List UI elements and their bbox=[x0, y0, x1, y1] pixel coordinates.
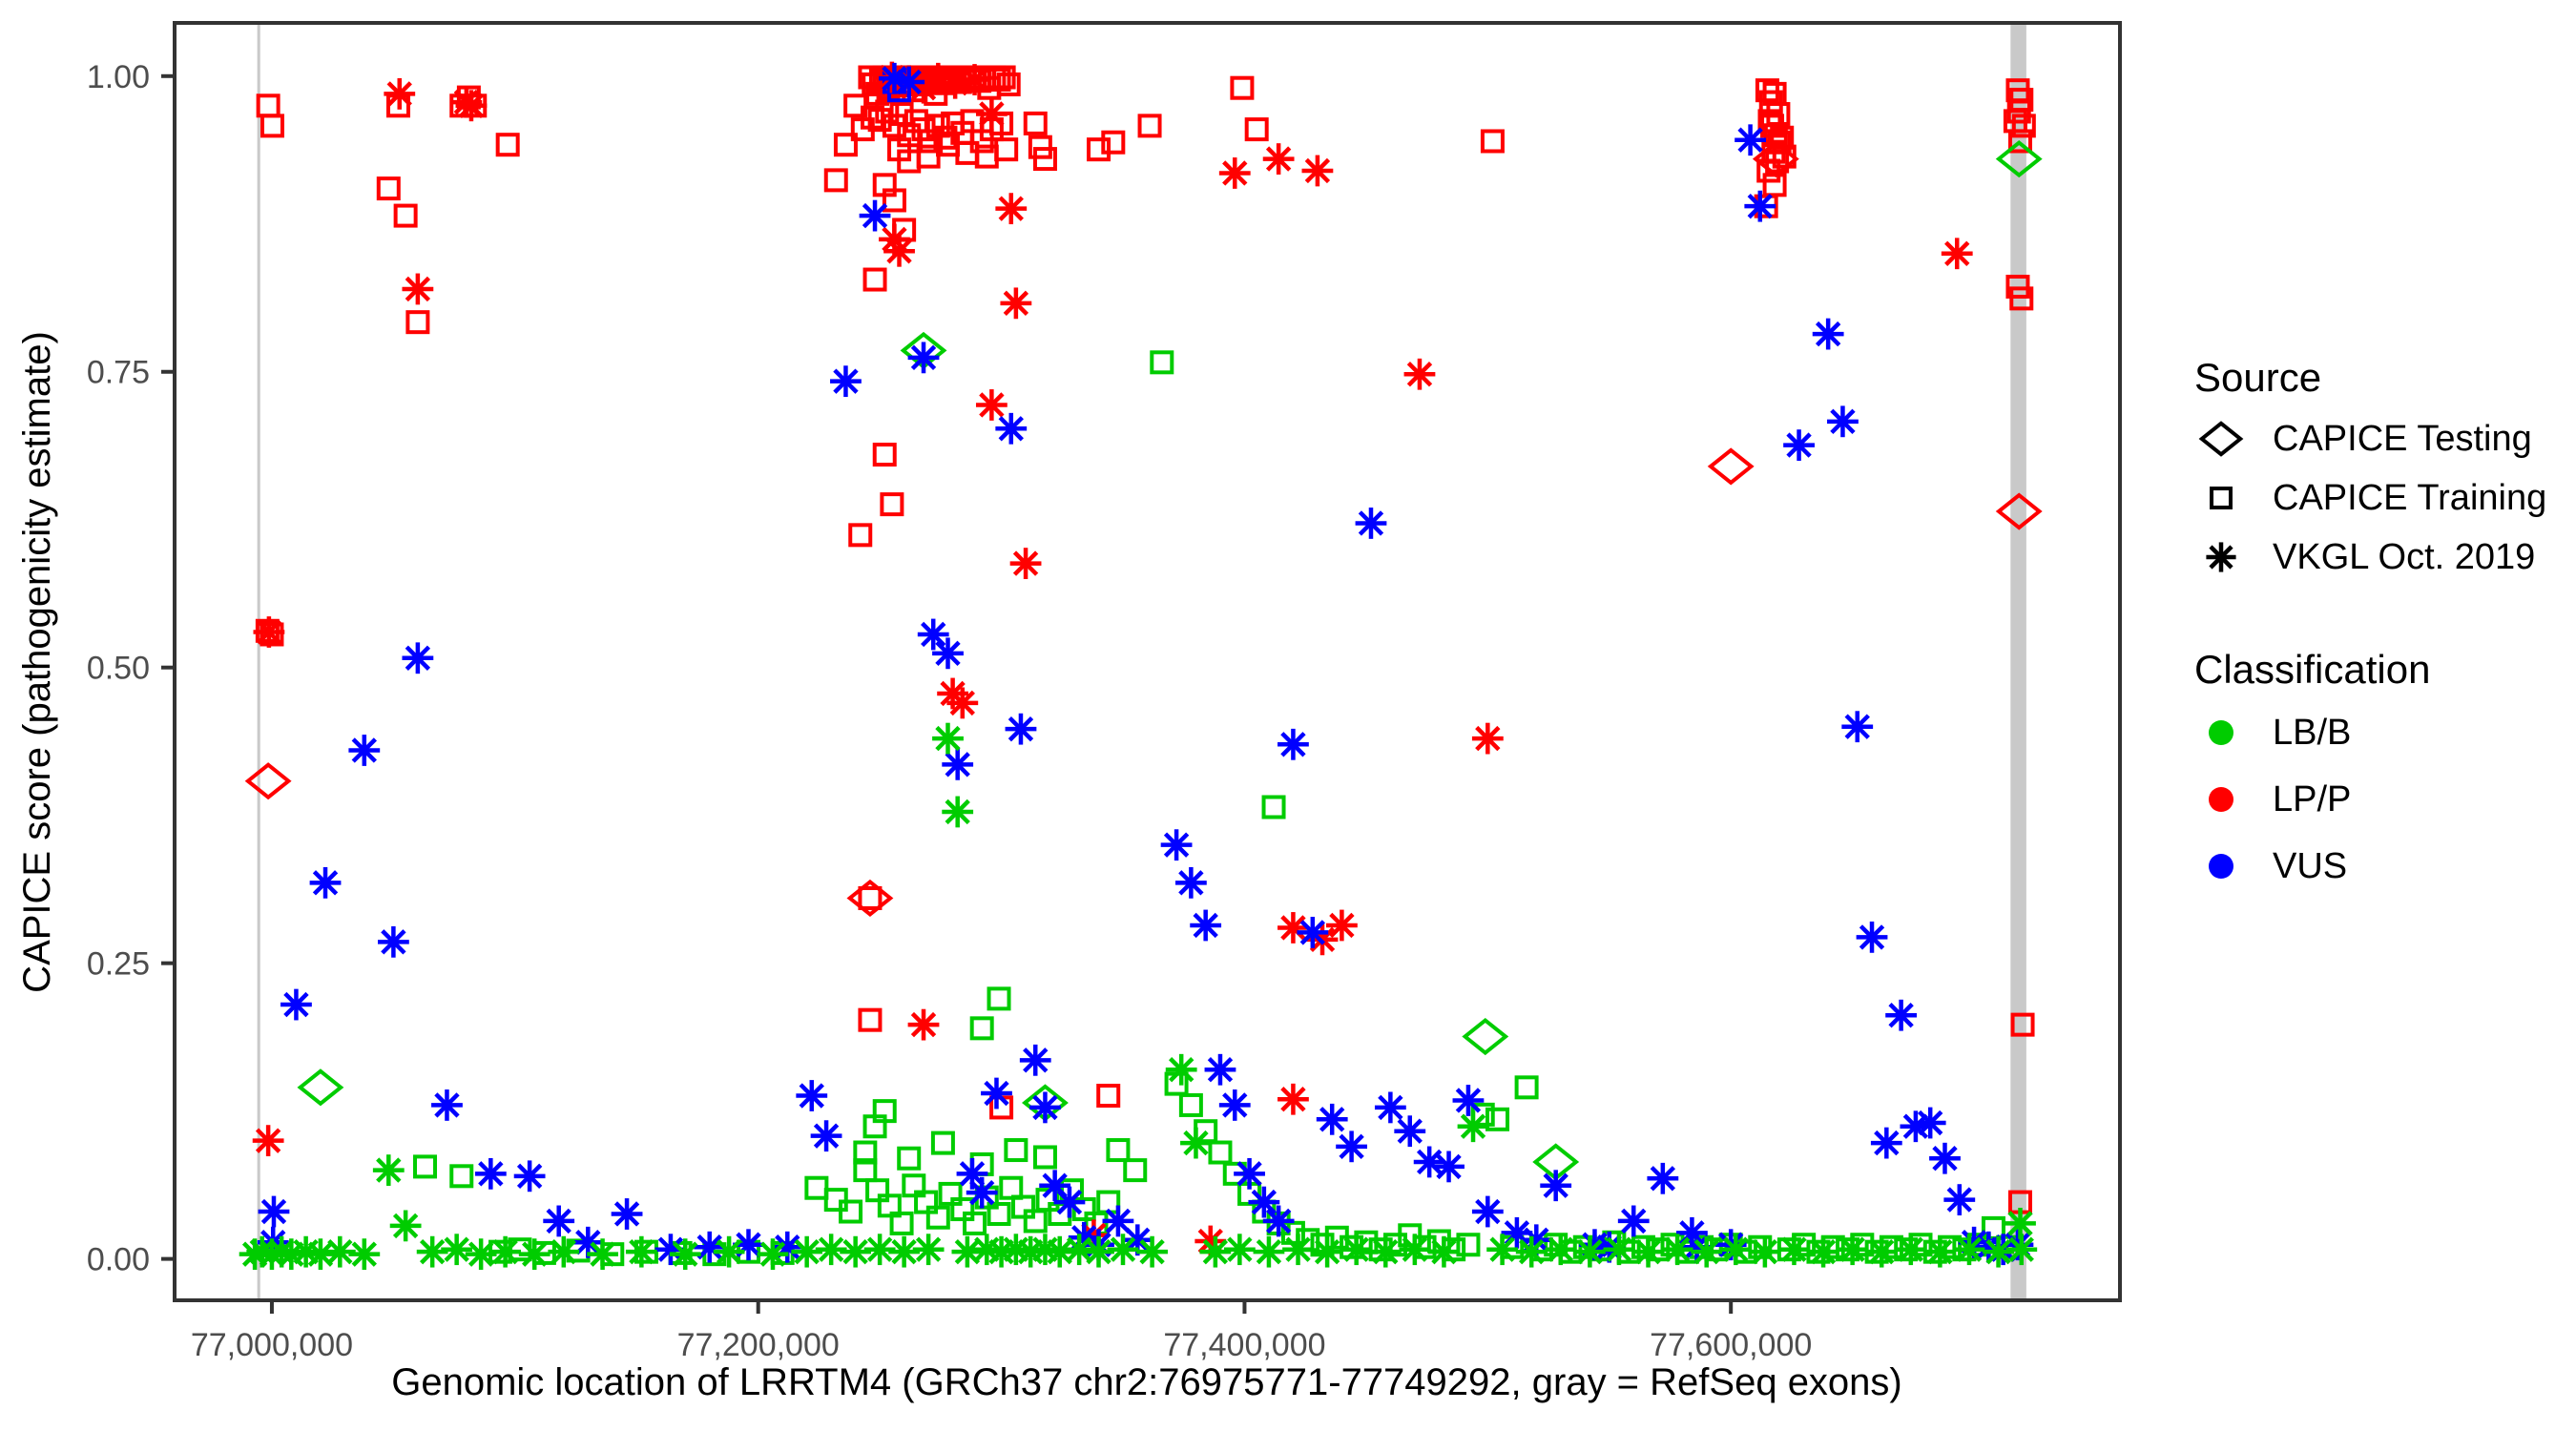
point-7-20 bbox=[714, 1236, 745, 1268]
point-7-68 bbox=[1924, 1236, 1956, 1268]
legend-title-source: Source bbox=[2194, 355, 2321, 400]
point-7-44 bbox=[1224, 1234, 1256, 1265]
point-6-68 bbox=[1735, 124, 1766, 156]
point-1-47 bbox=[1210, 1143, 1230, 1163]
point-6-30 bbox=[995, 413, 1027, 445]
point-1-101 bbox=[1125, 1160, 1145, 1180]
point-0-83 bbox=[882, 494, 902, 514]
point-6-70 bbox=[1813, 319, 1844, 350]
point-7-27 bbox=[913, 1234, 945, 1265]
point-6-23 bbox=[908, 342, 940, 373]
point-5-20 bbox=[946, 687, 978, 718]
point-6-20 bbox=[860, 200, 891, 232]
point-0-0 bbox=[259, 95, 279, 115]
point-5-15 bbox=[995, 193, 1027, 224]
point-1-37 bbox=[899, 1149, 919, 1169]
point-0-12 bbox=[826, 170, 846, 190]
point-1-42 bbox=[1035, 1147, 1055, 1167]
point-5-31 bbox=[1942, 238, 1973, 269]
legend-item-source-0[interactable]: CAPICE Testing bbox=[2202, 419, 2532, 459]
series-0 bbox=[258, 68, 2034, 1213]
x-axis-title: Genomic location of LRRTM4 (GRCh37 chr2:… bbox=[391, 1361, 1902, 1403]
point-7-25 bbox=[864, 1234, 896, 1265]
point-0-89 bbox=[1232, 78, 1252, 98]
point-6-3 bbox=[310, 867, 342, 899]
point-6-69 bbox=[1783, 429, 1815, 461]
point-6-33 bbox=[1029, 1092, 1061, 1124]
point-7-10 bbox=[390, 1210, 422, 1241]
scatter-plot-svg: 0.000.250.500.751.00 77,000,00077,200,00… bbox=[0, 0, 2576, 1431]
point-6-45 bbox=[1234, 1158, 1265, 1190]
point-5-16 bbox=[1000, 287, 1031, 319]
point-6-25 bbox=[932, 637, 964, 669]
point-5-24 bbox=[1219, 157, 1251, 189]
legend-item-source-0-label: CAPICE Testing bbox=[2273, 419, 2532, 459]
plot-panel-border bbox=[175, 23, 2120, 1300]
point-7-7 bbox=[324, 1236, 356, 1268]
point-0-91 bbox=[1089, 139, 1109, 159]
point-7-46 bbox=[1282, 1234, 1314, 1265]
series-7 bbox=[239, 723, 2037, 1270]
point-1-29 bbox=[1026, 1211, 1046, 1231]
point-7-17 bbox=[587, 1238, 618, 1270]
legend-item-classification-2[interactable]: VUS bbox=[2209, 846, 2347, 886]
diamond-marker-icon bbox=[2202, 424, 2240, 454]
point-0-11 bbox=[498, 135, 518, 155]
series-4 bbox=[301, 143, 2040, 1178]
point-0-4 bbox=[379, 178, 399, 198]
point-6-35 bbox=[1054, 1187, 1086, 1218]
square-marker-icon bbox=[2212, 488, 2231, 508]
point-5-25 bbox=[1404, 359, 1436, 390]
x-tick-label-2: 77,400,000 bbox=[1163, 1327, 1325, 1363]
point-6-47 bbox=[1263, 1206, 1295, 1237]
point-7-60 bbox=[1691, 1236, 1722, 1268]
point-7-50 bbox=[1399, 1234, 1430, 1265]
point-7-41 bbox=[1166, 1054, 1197, 1086]
point-5-22 bbox=[1263, 143, 1295, 175]
point-6-75 bbox=[1885, 1000, 1917, 1031]
point-0-90 bbox=[1247, 119, 1267, 139]
point-7-28 bbox=[932, 723, 964, 755]
point-7-49 bbox=[1370, 1236, 1402, 1268]
y-tick-label-3: 0.75 bbox=[87, 355, 150, 391]
point-7-67 bbox=[1895, 1234, 1926, 1265]
point-6-5 bbox=[378, 926, 409, 958]
point-7-63 bbox=[1778, 1234, 1810, 1265]
x-axis-ticks: 77,000,00077,200,00077,400,00077,600,000 bbox=[191, 1300, 1812, 1363]
point-0-118 bbox=[1098, 1086, 1118, 1106]
point-6-2 bbox=[280, 989, 312, 1021]
point-0-7 bbox=[407, 312, 427, 332]
point-1-102 bbox=[1108, 1140, 1128, 1160]
legend-item-classification-1-label: LP/P bbox=[2273, 779, 2351, 819]
point-0-75 bbox=[1026, 114, 1046, 134]
series-1 bbox=[415, 352, 2018, 1264]
point-0-6 bbox=[396, 206, 416, 226]
point-6-43 bbox=[1205, 1054, 1236, 1086]
point-6-42 bbox=[1190, 910, 1221, 942]
y-tick-label-0: 0.00 bbox=[87, 1242, 150, 1278]
series-3 bbox=[248, 143, 2040, 915]
point-7-58 bbox=[1632, 1236, 1664, 1268]
point-7-38 bbox=[1083, 1236, 1114, 1268]
point-7-65 bbox=[1837, 1234, 1868, 1265]
point-1-24 bbox=[965, 1213, 985, 1234]
exon-band-1 bbox=[2010, 23, 2026, 1300]
y-tick-label-4: 1.00 bbox=[87, 59, 150, 95]
point-7-26 bbox=[888, 1236, 920, 1268]
point-6-18 bbox=[811, 1120, 842, 1151]
point-6-73 bbox=[1857, 922, 1888, 953]
legend-panel: SourceCAPICE TestingCAPICE TrainingVKGL … bbox=[2194, 355, 2546, 886]
point-7-56 bbox=[1574, 1236, 1606, 1268]
asterisk-marker-icon bbox=[2206, 542, 2235, 571]
point-0-88 bbox=[1140, 115, 1160, 135]
point-5-14 bbox=[883, 236, 915, 267]
point-6-79 bbox=[1943, 1184, 1975, 1215]
point-6-40 bbox=[1161, 829, 1193, 861]
point-6-49 bbox=[1297, 917, 1328, 948]
point-6-77 bbox=[1915, 1108, 1946, 1139]
point-7-40 bbox=[1136, 1236, 1168, 1268]
point-6-63 bbox=[1618, 1206, 1650, 1237]
point-7-8 bbox=[348, 1238, 380, 1270]
red-dot-icon bbox=[2209, 787, 2233, 812]
point-3-0 bbox=[248, 765, 289, 798]
point-6-50 bbox=[1317, 1104, 1348, 1135]
point-6-72 bbox=[1841, 711, 1873, 742]
point-7-61 bbox=[1720, 1234, 1752, 1265]
point-7-22 bbox=[791, 1236, 822, 1268]
legend-item-source-2-label: VKGL Oct. 2019 bbox=[2273, 537, 2535, 577]
point-5-29 bbox=[1326, 910, 1358, 942]
point-6-12 bbox=[612, 1198, 643, 1230]
point-7-53 bbox=[1486, 1234, 1518, 1265]
point-7-66 bbox=[1866, 1236, 1898, 1268]
point-7-45 bbox=[1254, 1236, 1285, 1268]
point-7-55 bbox=[1545, 1234, 1576, 1265]
point-7-59 bbox=[1662, 1234, 1693, 1265]
green-dot-icon bbox=[2209, 720, 2233, 745]
point-7-13 bbox=[466, 1238, 497, 1270]
point-7-11 bbox=[417, 1236, 448, 1268]
point-6-17 bbox=[796, 1080, 827, 1111]
point-6-8 bbox=[475, 1158, 507, 1190]
point-0-84 bbox=[850, 525, 870, 545]
point-0-92 bbox=[1103, 133, 1123, 153]
point-6-29 bbox=[981, 1078, 1012, 1110]
y-tick-label-1: 0.25 bbox=[87, 946, 150, 983]
point-7-19 bbox=[670, 1238, 701, 1270]
point-5-21 bbox=[908, 1009, 940, 1041]
point-6-4 bbox=[348, 735, 380, 766]
point-1-1 bbox=[451, 1166, 471, 1186]
y-axis-title: CAPICE score (pathogenicity estimate) bbox=[16, 331, 58, 993]
point-6-1 bbox=[259, 1196, 290, 1228]
point-6-54 bbox=[1394, 1115, 1425, 1147]
point-6-31 bbox=[1006, 714, 1037, 745]
point-6-71 bbox=[1827, 405, 1859, 437]
point-6-61 bbox=[1540, 1170, 1571, 1201]
point-7-24 bbox=[840, 1236, 871, 1268]
y-tick-label-2: 0.50 bbox=[87, 651, 150, 687]
point-6-9 bbox=[514, 1160, 546, 1192]
exon-band-0 bbox=[258, 23, 260, 1300]
point-5-5 bbox=[456, 90, 488, 121]
legend-item-source-1-label: CAPICE Training bbox=[2273, 478, 2546, 518]
point-6-53 bbox=[1375, 1092, 1406, 1124]
point-6-74 bbox=[1871, 1128, 1902, 1159]
point-6-46 bbox=[1248, 1187, 1279, 1218]
point-0-105 bbox=[1765, 175, 1785, 195]
point-0-85 bbox=[860, 1010, 880, 1030]
point-0-93 bbox=[1483, 131, 1503, 151]
point-7-47 bbox=[1312, 1236, 1343, 1268]
point-6-6 bbox=[402, 642, 433, 674]
point-5-23 bbox=[1302, 156, 1334, 187]
point-7-16 bbox=[548, 1236, 579, 1268]
point-6-52 bbox=[1356, 508, 1387, 539]
figure-root: 0.000.250.500.751.00 77,000,00077,200,00… bbox=[0, 0, 2576, 1431]
point-1-104 bbox=[1152, 352, 1172, 372]
point-6-41 bbox=[1175, 867, 1207, 899]
point-7-62 bbox=[1749, 1236, 1780, 1268]
point-7-54 bbox=[1516, 1236, 1548, 1268]
point-5-11 bbox=[959, 64, 990, 95]
legend-item-classification-2-label: VUS bbox=[2273, 846, 2347, 886]
point-7-64 bbox=[1808, 1236, 1839, 1268]
point-0-87 bbox=[860, 888, 880, 908]
point-7-57 bbox=[1604, 1234, 1635, 1265]
point-7-15 bbox=[519, 1238, 551, 1270]
point-6-28 bbox=[966, 1177, 998, 1209]
point-1-103 bbox=[1264, 797, 1284, 817]
point-5-17 bbox=[1010, 548, 1042, 579]
point-7-51 bbox=[1428, 1236, 1460, 1268]
legend-item-source-2[interactable]: VKGL Oct. 2019 bbox=[2206, 537, 2535, 577]
point-6-48 bbox=[1278, 729, 1309, 760]
point-1-0 bbox=[415, 1156, 435, 1176]
series-6 bbox=[258, 63, 2034, 1265]
point-6-44 bbox=[1219, 1089, 1251, 1121]
point-7-12 bbox=[441, 1234, 472, 1265]
point-6-32 bbox=[1020, 1045, 1051, 1076]
point-6-19 bbox=[830, 365, 862, 397]
point-5-18 bbox=[976, 389, 1008, 421]
point-7-21 bbox=[758, 1238, 789, 1270]
point-6-64 bbox=[1647, 1163, 1678, 1194]
point-7-18 bbox=[626, 1236, 657, 1268]
point-7-43 bbox=[1199, 1236, 1231, 1268]
point-6-24 bbox=[918, 619, 949, 651]
point-0-81 bbox=[865, 270, 885, 290]
point-6-67 bbox=[1744, 191, 1776, 222]
legend-item-classification-0-label: LB/B bbox=[2273, 713, 2351, 753]
legend-item-classification-1[interactable]: LP/P bbox=[2209, 779, 2351, 819]
series-5 bbox=[253, 62, 1973, 1257]
point-5-12 bbox=[976, 98, 1008, 130]
point-7-52 bbox=[1458, 1110, 1489, 1142]
point-7-14 bbox=[489, 1236, 521, 1268]
point-7-70 bbox=[1983, 1236, 2014, 1268]
x-tick-label-1: 77,200,000 bbox=[677, 1327, 840, 1363]
point-0-1 bbox=[262, 115, 282, 135]
point-1-45 bbox=[1181, 1095, 1201, 1115]
x-tick-label-3: 77,600,000 bbox=[1650, 1327, 1812, 1363]
point-1-12 bbox=[806, 1178, 826, 1198]
point-5-2 bbox=[384, 78, 415, 110]
point-6-78 bbox=[1929, 1143, 1961, 1174]
x-tick-label-0: 77,000,000 bbox=[191, 1327, 353, 1363]
point-6-10 bbox=[543, 1206, 574, 1237]
data-points-layer bbox=[239, 62, 2040, 1270]
point-6-22 bbox=[893, 67, 924, 98]
point-6-58 bbox=[1472, 1196, 1504, 1228]
legend-title-classification: Classification bbox=[2194, 647, 2430, 692]
point-7-23 bbox=[816, 1234, 847, 1265]
point-5-1 bbox=[253, 616, 284, 648]
point-6-56 bbox=[1433, 1151, 1465, 1183]
point-5-3 bbox=[402, 274, 433, 305]
blue-dot-icon bbox=[2209, 854, 2233, 879]
point-7-72 bbox=[2005, 1234, 2037, 1265]
point-6-7 bbox=[431, 1089, 463, 1121]
point-7-9 bbox=[373, 1154, 405, 1186]
point-1-40 bbox=[1006, 1140, 1026, 1160]
point-0-74 bbox=[996, 139, 1016, 159]
point-7-29 bbox=[942, 797, 973, 828]
point-4-0 bbox=[301, 1071, 342, 1104]
point-7-69 bbox=[1954, 1234, 1985, 1265]
legend-item-source-1[interactable]: CAPICE Training bbox=[2212, 478, 2546, 518]
point-1-68 bbox=[1517, 1077, 1537, 1097]
point-5-26 bbox=[1472, 723, 1504, 755]
point-0-82 bbox=[875, 445, 895, 465]
y-axis-ticks: 0.000.250.500.751.00 bbox=[87, 59, 175, 1278]
point-7-48 bbox=[1340, 1234, 1372, 1265]
legend-item-classification-0[interactable]: LB/B bbox=[2209, 713, 2351, 753]
point-7-39 bbox=[1108, 1234, 1139, 1265]
point-6-51 bbox=[1336, 1130, 1367, 1162]
point-5-30 bbox=[1278, 1084, 1309, 1115]
point-4-3 bbox=[1465, 1021, 1506, 1053]
point-6-57 bbox=[1453, 1085, 1485, 1116]
point-7-42 bbox=[1180, 1128, 1212, 1159]
point-1-105 bbox=[989, 988, 1009, 1008]
point-3-3 bbox=[1711, 450, 1752, 483]
point-1-106 bbox=[972, 1018, 992, 1038]
point-5-0 bbox=[253, 1125, 284, 1156]
point-1-38 bbox=[933, 1133, 953, 1153]
